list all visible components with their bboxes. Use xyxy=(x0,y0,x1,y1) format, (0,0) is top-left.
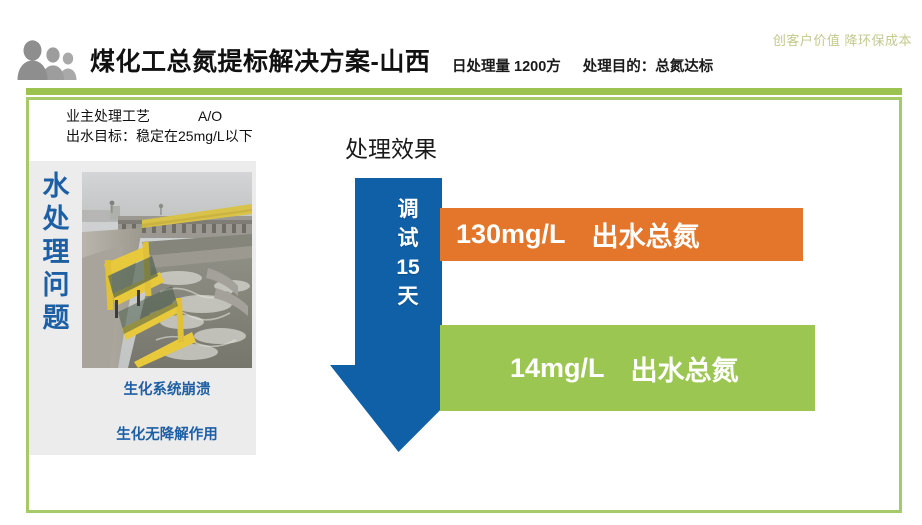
treatment-effect-title: 处理效果 xyxy=(345,130,437,164)
process-value: A/O xyxy=(198,108,222,124)
water-problem-vertical-title: 水 处 理 问 题 xyxy=(34,170,78,335)
people-group-icon xyxy=(16,36,82,82)
owner-process-notes: 业主处理工艺A/O 出水目标：稳定在25mg/L以下 xyxy=(66,106,253,147)
header-subinfo: 日处理量 1200方处理目的：总氮达标 xyxy=(452,55,713,76)
issue-item-2: 生化无降解作用 xyxy=(82,423,252,444)
process-label: 业主处理工艺 xyxy=(66,108,150,124)
vertical-char-4: 题 xyxy=(34,302,78,335)
result-bar-after: 14mg/L出水总氮 xyxy=(440,325,815,411)
vertical-char-3: 问 xyxy=(34,269,78,302)
effluent-target-row: 出水目标：稳定在25mg/L以下 xyxy=(66,126,253,146)
result-bar-before: 130mg/L出水总氮 xyxy=(440,208,803,261)
arrow-line-3: 天 xyxy=(330,283,486,312)
capacity-label: 日处理量 1200方 xyxy=(452,59,561,75)
vertical-char-2: 理 xyxy=(34,236,78,269)
issue-item-1: 生化系统崩溃 xyxy=(82,378,252,399)
result-value-before: 130mg/L xyxy=(456,219,566,250)
result-label-before: 出水总氮 xyxy=(592,215,700,254)
result-label-after: 出水总氮 xyxy=(631,349,739,388)
process-note-row: 业主处理工艺A/O xyxy=(66,106,253,126)
vertical-char-1: 处 xyxy=(34,203,78,236)
page-title: 煤化工总氮提标解决方案-山西 xyxy=(90,42,430,78)
title-underline-rule xyxy=(26,88,902,95)
aeration-tank-photo xyxy=(82,172,252,368)
purpose-label: 处理目的：总氮达标 xyxy=(583,59,714,75)
slide-root: 创客户价值 降环保成本 煤化工总氮提标解决方案-山西 日处理量 1200方处理目… xyxy=(0,0,922,525)
vertical-char-0: 水 xyxy=(34,170,78,203)
result-value-after: 14mg/L xyxy=(510,353,605,384)
